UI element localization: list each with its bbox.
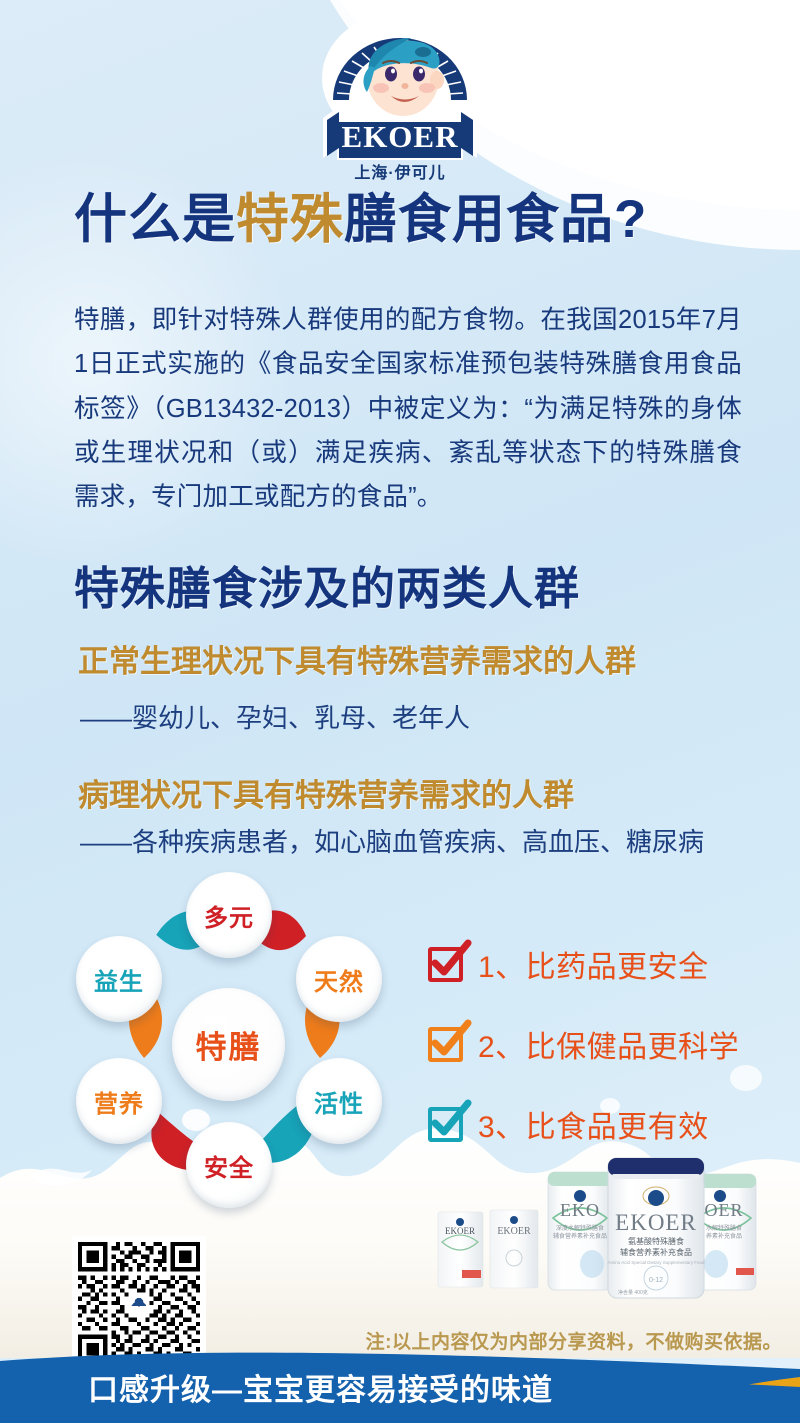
footer-banner: 口感升级—宝宝更容易接受的味道: [0, 1351, 800, 1423]
hex-petal-bottom-left[interactable]: 营养: [76, 1058, 162, 1144]
svg-text:净含量 400克: 净含量 400克: [618, 1289, 648, 1296]
benefits-checklist: 1、比药品更安全 2、比保健品更科学 3、比食品更有效: [428, 928, 758, 1168]
svg-text:EKO: EKO: [560, 1200, 600, 1220]
hex-petal-top-right[interactable]: 天然: [296, 936, 382, 1022]
logo-wordmark: EKOER: [342, 119, 459, 154]
product-box-2: EKOER: [490, 1210, 538, 1288]
hex-petal-top-label: 多元: [204, 898, 254, 933]
svg-text:EKOER: EKOER: [445, 1226, 475, 1236]
checkmark-icon: [428, 947, 463, 982]
svg-text:EKOER: EKOER: [497, 1226, 531, 1237]
checklist-item-2-label: 2、比保健品更科学: [478, 1022, 739, 1066]
svg-text:OER: OER: [705, 1200, 744, 1220]
logo-subtext: 上海·伊可儿: [354, 163, 445, 182]
product-lineup: EKOER EKOER EKO 深度水解特殊膳食 辅食营养素补充食品: [420, 1152, 800, 1327]
page-title: 什么是特殊膳食用食品?: [74, 192, 734, 248]
group-1-title: 正常生理状况下具有特殊营养需求的人群: [78, 636, 636, 681]
hex-center: 特膳: [172, 988, 285, 1101]
svg-text:Amino Acid Special Dietary Sup: Amino Acid Special Dietary Supplementary…: [607, 1260, 705, 1265]
checklist-item-2[interactable]: 2、比保健品更科学: [428, 1008, 758, 1080]
poster-root: EKOER 上海·伊可儿 什么是特殊膳食用食品? 特膳，即针对特殊人群使用的配方…: [0, 0, 800, 1423]
definition-paragraph: 特膳，即针对特殊人群使用的配方食物。在我国2015年7月1日正式实施的《食品安全…: [74, 298, 742, 520]
hex-petal-top-left[interactable]: 益生: [76, 936, 162, 1022]
section-heading: 特殊膳食涉及的两类人群: [74, 552, 580, 617]
checklist-item-3[interactable]: 3、比食品更有效: [428, 1088, 758, 1160]
product-can-center: EKOER 氨基酸特殊膳食 辅食营养素补充食品 Amino Acid Speci…: [607, 1158, 705, 1298]
checkmark-icon: [428, 1107, 463, 1142]
hex-petal-bottom-left-label: 营养: [94, 1084, 144, 1119]
hex-petal-bottom-label: 安全: [204, 1148, 254, 1183]
checklist-item-1[interactable]: 1、比药品更安全: [428, 928, 758, 1000]
can-wordmark: EKOER: [615, 1210, 697, 1235]
svg-text:辅食营养素补充食品: 辅食营养素补充食品: [620, 1247, 692, 1257]
hex-petal-bottom-right-label: 活性: [314, 1084, 364, 1119]
checkmark-icon: [428, 1027, 463, 1062]
hex-petal-top-right-label: 天然: [314, 962, 364, 997]
title-highlight: 特殊: [236, 190, 344, 249]
hex-petal-bottom[interactable]: 安全: [186, 1122, 272, 1208]
product-can-left: EKO 深度水解特殊膳食 辅食营养素补充食品: [548, 1172, 612, 1290]
group-2-title: 病理状况下具有特殊营养需求的人群: [78, 770, 574, 815]
footer-text: 口感升级—宝宝更容易接受的味道: [88, 1365, 553, 1409]
group-1-detail: ——婴幼儿、孕妇、乳母、老年人: [80, 698, 470, 735]
checklist-item-3-label: 3、比食品更有效: [478, 1102, 709, 1146]
disclaimer-note: 注:以上内容仅为内部分享资料，不做购买依据。: [0, 1327, 800, 1354]
brand-logo: EKOER 上海·伊可儿: [311, 8, 489, 183]
checklist-item-1-label: 1、比药品更安全: [478, 942, 709, 986]
hex-petal-top[interactable]: 多元: [186, 872, 272, 958]
group-2-detail: ——各种疾病患者，如心脑血管疾病、高血压、糖尿病: [80, 822, 704, 859]
title-part2: 膳食用食品?: [344, 190, 647, 249]
svg-text:深度水解特殊膳食: 深度水解特殊膳食: [556, 1224, 604, 1232]
svg-text:辅食营养素补充食品: 辅食营养素补充食品: [553, 1232, 607, 1240]
title-part1: 什么是: [74, 190, 236, 249]
hex-petal-top-left-label: 益生: [94, 962, 144, 997]
svg-text:0-12: 0-12: [649, 1277, 663, 1284]
svg-text:水解特殊膳食: 水解特殊膳食: [706, 1224, 742, 1232]
hex-petal-diagram: 特膳 多元 天然 活性 安全 营养 益生: [58, 866, 406, 1216]
svg-text:氨基酸特殊膳食: 氨基酸特殊膳食: [628, 1236, 684, 1246]
hex-petal-bottom-right[interactable]: 活性: [296, 1058, 382, 1144]
product-box-1: EKOER: [438, 1212, 483, 1287]
svg-text:养素补充食品: 养素补充食品: [706, 1232, 742, 1240]
